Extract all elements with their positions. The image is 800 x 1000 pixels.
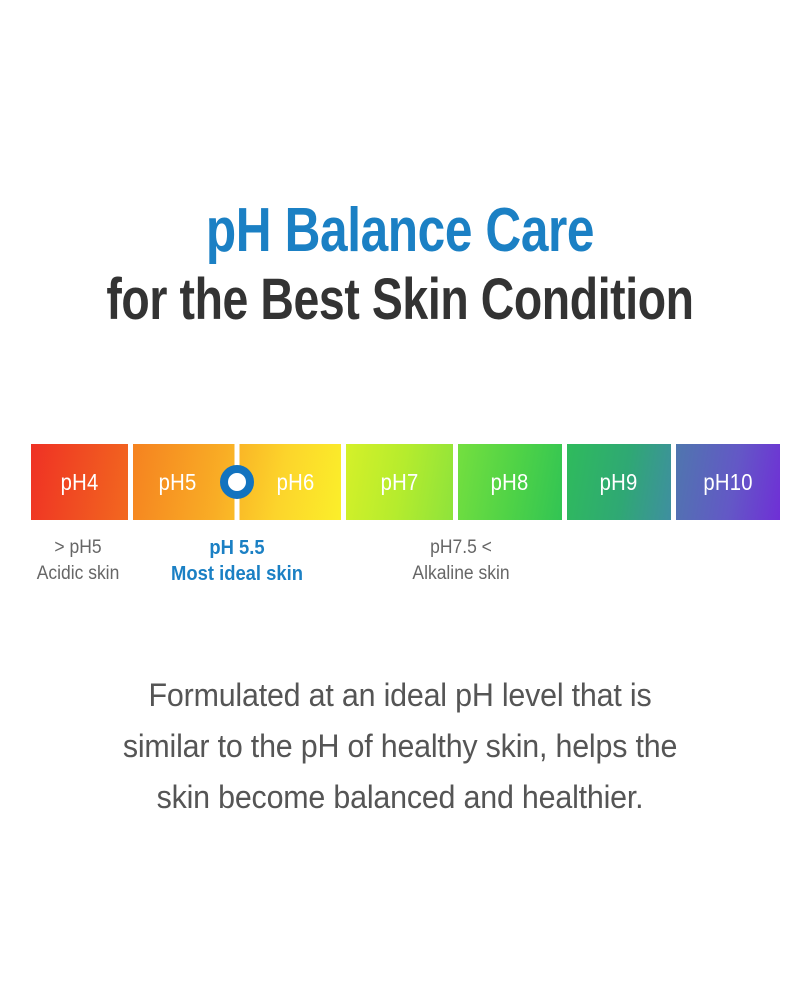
- ph-segment-ph7: pH7: [346, 444, 453, 520]
- ph-balance-infographic: pH Balance Care for the Best Skin Condit…: [0, 0, 800, 1000]
- caption-alkaline-range: pH7.5 <: [412, 535, 509, 561]
- body-paragraph: Formulated at an ideal pH level that is …: [50, 670, 750, 823]
- caption-alkaline-label: Alkaline skin: [412, 561, 509, 587]
- caption-ideal-label: Most ideal skin: [171, 561, 303, 587]
- ph-segment-ph4: pH4: [31, 444, 128, 520]
- body-paragraph-line-2: similar to the pH of healthy skin, helps…: [68, 721, 733, 772]
- ideal-ph-marker-icon: [220, 465, 254, 499]
- page-title: pH Balance Care: [80, 196, 720, 266]
- caption-acidic-range: > pH5: [37, 535, 120, 561]
- caption-acidic-label: Acidic skin: [37, 561, 120, 587]
- heading-block: pH Balance Care for the Best Skin Condit…: [0, 196, 800, 332]
- caption-ideal-value: pH 5.5: [171, 535, 303, 561]
- ph-segment-label-ph5: pH5: [159, 469, 197, 496]
- body-paragraph-line-3: skin become balanced and healthier.: [68, 772, 733, 823]
- page-subtitle: for the Best Skin Condition: [80, 268, 720, 332]
- ph-segment-label-ph4: pH4: [61, 469, 99, 496]
- ph-segment-label-ph8: pH8: [491, 469, 529, 496]
- ph-segment-ph10: pH10: [676, 444, 780, 520]
- ph-segment-ph9: pH9: [567, 444, 671, 520]
- ph-scale-bar: pH4 pH5 pH6 pH7 pH8 pH9: [31, 444, 770, 520]
- caption-alkaline: pH7.5 < Alkaline skin: [408, 535, 514, 587]
- caption-acidic: > pH5 Acidic skin: [33, 535, 123, 587]
- ph-scale: pH4 pH5 pH6 pH7 pH8 pH9: [31, 444, 770, 520]
- ph-segment-ph5-ph6: pH5 pH6: [133, 444, 341, 520]
- ph-segment-label-ph9: pH9: [600, 469, 638, 496]
- caption-ideal: pH 5.5 Most ideal skin: [165, 535, 308, 587]
- ph-segment-label-ph6: pH6: [277, 469, 315, 496]
- ph-segment-label-ph10: pH10: [703, 469, 752, 496]
- ph-scale-captions: > pH5 Acidic skin pH 5.5 Most ideal skin…: [0, 535, 800, 601]
- ph-segment-ph8: pH8: [458, 444, 562, 520]
- ph-segment-label-ph7: pH7: [381, 469, 419, 496]
- body-paragraph-line-1: Formulated at an ideal pH level that is: [68, 670, 733, 721]
